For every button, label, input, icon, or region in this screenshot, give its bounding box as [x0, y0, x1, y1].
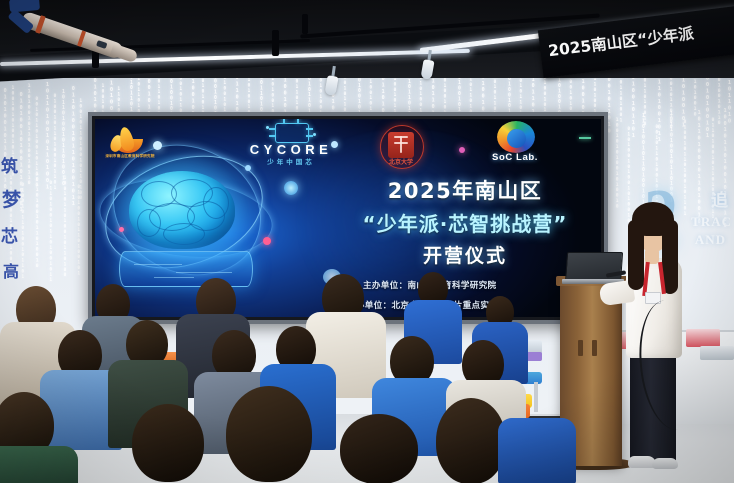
cycore-logo-title: CYCORE: [237, 142, 345, 157]
cycore-logo-subtitle: 少年中国芯: [237, 156, 345, 166]
wall-word-2: 梦: [2, 185, 22, 212]
cycore-logo: CYCORE 少年中国芯: [237, 123, 345, 167]
overhead-banner-text: 2025南山区“少年派: [547, 21, 695, 61]
slide-title-line-3: 开营仪式: [331, 241, 599, 268]
audience-body: [0, 446, 78, 483]
slide-particle-3: [119, 227, 124, 232]
event-photo-scene: 0101001011010010110010101001010010010100…: [0, 0, 734, 483]
slide-accent-dash: [579, 137, 591, 139]
wall-word-3: 芯: [1, 222, 19, 247]
presenter-shoe-right: [652, 458, 678, 469]
nanshan-institute-logo-caption: 深圳市南山区教育科学研究院: [105, 154, 155, 159]
soc-lab-logo-title: SoC Lab.: [477, 152, 553, 163]
wall-word-4: 高: [3, 258, 20, 282]
wall-english-line-2: AND: [695, 232, 726, 248]
ceiling-hanger-3: [302, 14, 308, 34]
audience-head: [226, 386, 312, 482]
slide-particle-1: [153, 141, 162, 150]
slide-particle-4: [263, 237, 271, 245]
wall-english-line-1: TRAC: [691, 214, 732, 230]
ceiling-hanger-2: [272, 30, 279, 56]
slide-title-line-2: “少年派·芯智挑战营”: [331, 208, 599, 237]
slide-particle-7: [284, 181, 298, 195]
wall-chinese-accent: 追: [711, 186, 728, 211]
peking-university-seal: 北京大学: [380, 125, 422, 167]
podium-slot-1: [578, 340, 583, 356]
slide-brain-graphic: [129, 171, 235, 249]
storage-bin-4: [700, 346, 734, 360]
audience-head: [436, 398, 506, 483]
slide-title-line-1: 2025年南山区: [331, 175, 599, 205]
presenter-hair-left: [628, 220, 644, 290]
audience-head: [340, 414, 418, 483]
nanshan-institute-logo: 深圳市南山区教育科学研究院: [111, 127, 147, 161]
slide-pedestal: [119, 251, 253, 287]
stool-blue-leg-2: [534, 382, 538, 412]
podium-slot-2: [592, 340, 597, 356]
slide-particle-6: [459, 147, 465, 153]
soc-lab-logo: SoC Lab.: [477, 121, 553, 167]
audience-head: [132, 404, 204, 482]
audience-body: [498, 418, 576, 483]
slide-title-block: 2025年南山区 “少年派·芯智挑战营” 开营仪式: [331, 175, 599, 268]
wall-word-1: 筑: [1, 152, 19, 177]
peking-university-seal-caption: 北京大学: [373, 157, 429, 166]
